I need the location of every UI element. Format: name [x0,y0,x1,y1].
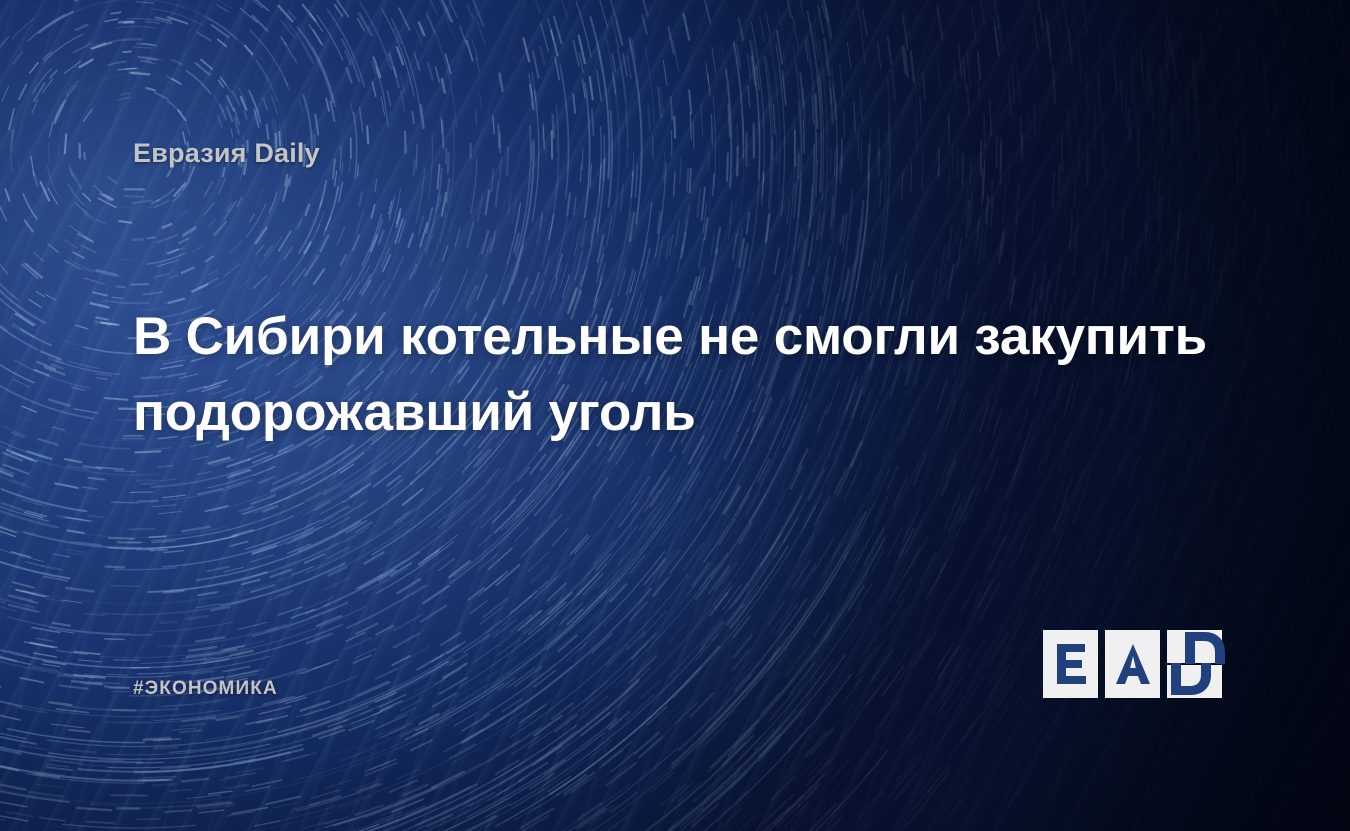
logo-letter-d-icon [1167,630,1222,698]
logo-letter-a-icon [1114,642,1152,686]
logo-tile-a [1105,630,1160,698]
category-hashtag: #ЭКОНОМИКА [133,678,278,700]
headline-title: В Сибири котельные не смогли закупить по… [133,299,1243,452]
card-content: Евразия Daily В Сибири котельные не смог… [0,0,1350,831]
brand-name: Евразия Daily [133,138,320,169]
ead-logo [1043,630,1223,698]
logo-letter-e-icon [1054,642,1088,686]
share-card: Евразия Daily В Сибири котельные не смог… [0,0,1350,831]
logo-tile-d [1167,630,1222,698]
logo-tile-e [1043,630,1098,698]
